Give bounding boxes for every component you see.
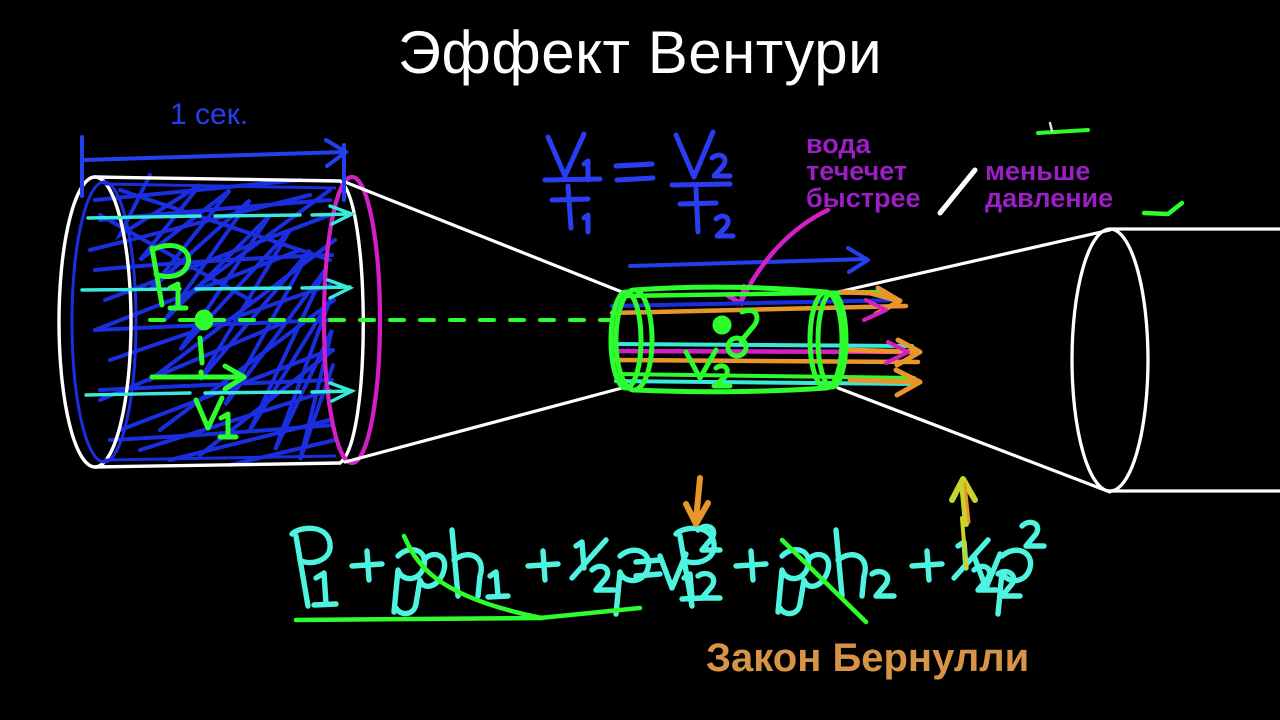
water-faster-label: вода течечет быстрее [806, 131, 921, 212]
arrow-down-icon [686, 478, 708, 524]
throat-streamlines [612, 292, 918, 384]
right-pipe-outline [1072, 229, 1280, 491]
venturi-effect-slide: Эффект Вентури 1 сек. вода течечет быстр… [0, 0, 1280, 720]
annotation-particle-marker-throat [715, 318, 729, 332]
bernoulli-law-label: Закон Бернулли [706, 638, 1029, 679]
dash-mark-icon [1038, 123, 1088, 133]
flow-rate-formula [545, 132, 733, 236]
throat-flow-arrow-blue [630, 248, 868, 272]
check-icon [1144, 203, 1182, 214]
label-separator-slash [940, 170, 975, 213]
arrow-up-icon [952, 479, 975, 524]
less-pressure-label: меньше давление [985, 158, 1113, 212]
page-title: Эффект Вентури [0, 22, 1280, 83]
time-label: 1 сек. [170, 100, 248, 131]
